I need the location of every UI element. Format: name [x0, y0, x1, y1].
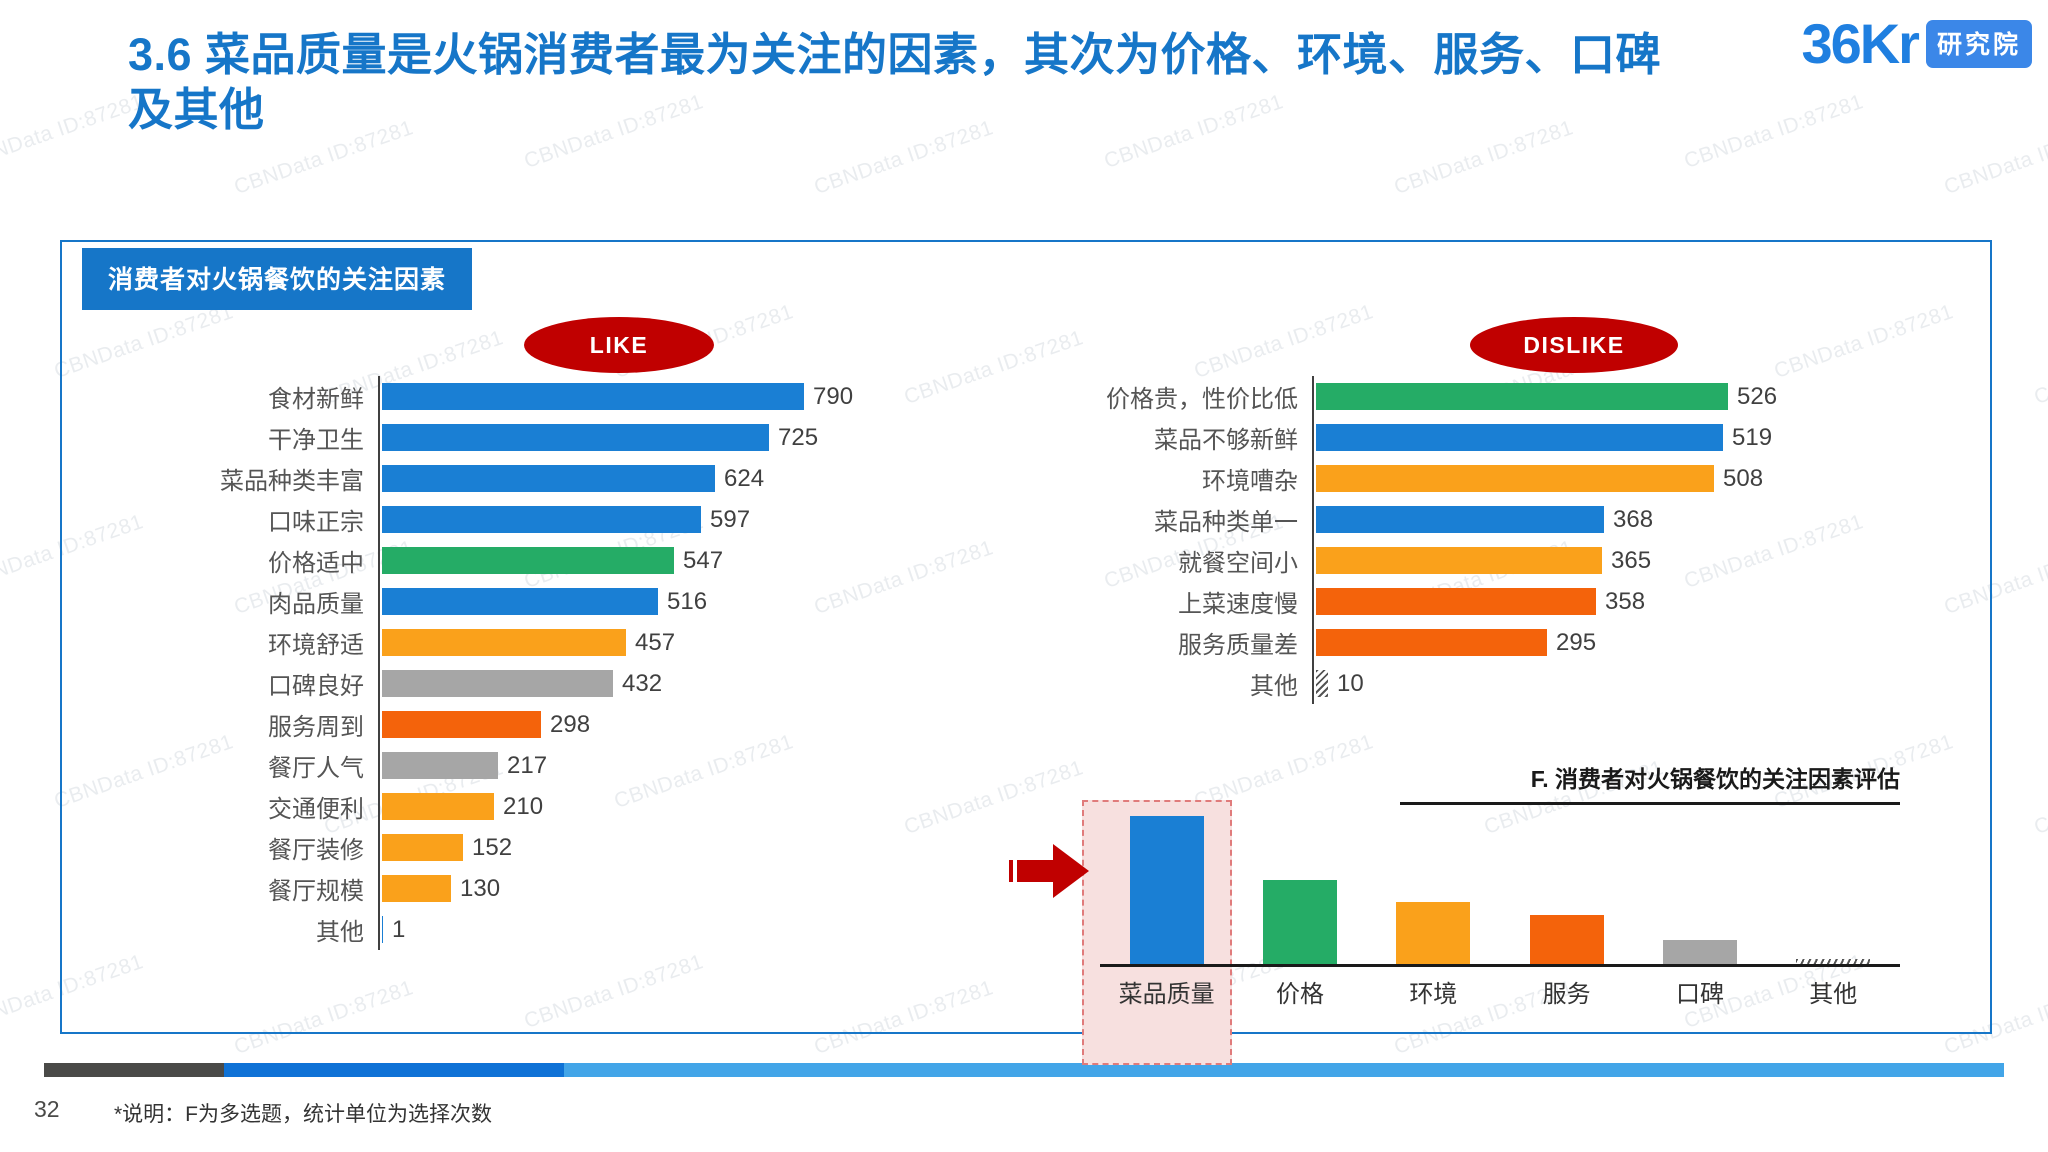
mini-bar-label: 环境 — [1367, 974, 1500, 1009]
bar-track: 298 — [378, 711, 920, 739]
bar-row: 餐厅规模130 — [150, 868, 920, 909]
mini-chart-title: F. 消费者对火锅餐饮的关注因素评估 — [1531, 760, 1900, 794]
mini-bar-segment — [1396, 902, 1470, 964]
bar-segment — [1316, 424, 1723, 451]
bar-track: 358 — [1312, 588, 1800, 616]
bar-segment — [382, 752, 498, 779]
bar-category-label: 环境嘈杂 — [1040, 461, 1312, 496]
bar-row: 口碑良好432 — [150, 663, 920, 704]
bar-value-label: 597 — [701, 506, 750, 534]
bar-track: 547 — [378, 547, 920, 575]
bar-category-label: 其他 — [150, 912, 378, 947]
page-number: 32 — [34, 1096, 60, 1123]
bar-value-label: 790 — [804, 383, 853, 411]
bar-category-label: 口碑良好 — [150, 666, 378, 701]
mini-bar-segment — [1530, 915, 1604, 964]
mini-bar-segment — [1663, 940, 1737, 964]
bar-row: 价格适中547 — [150, 540, 920, 581]
bar-track: 295 — [1312, 629, 1800, 657]
mini-chart-labels: 菜品质量价格环境服务口碑其他 — [1100, 974, 1900, 1009]
watermark-text: CBNData ID:87281 — [0, 90, 147, 174]
bar-value-label: 210 — [494, 793, 543, 821]
bar-track: 519 — [1312, 424, 1800, 452]
bar-category-label: 口味正宗 — [150, 502, 378, 537]
bar-value-label: 516 — [658, 588, 707, 616]
mini-bar-segment — [1130, 816, 1204, 964]
bar-value-label: 217 — [498, 752, 547, 780]
bar-row: 服务质量差295 — [1040, 622, 1800, 663]
bar-segment — [382, 875, 451, 902]
bar-row: 服务周到298 — [150, 704, 920, 745]
bar-row: 价格贵，性价比低526 — [1040, 376, 1800, 417]
mini-bar-column — [1367, 812, 1500, 964]
bar-track: 508 — [1312, 465, 1800, 493]
bar-row: 口味正宗597 — [150, 499, 920, 540]
like-bar-chart: 食材新鲜790干净卫生725菜品种类丰富624口味正宗597价格适中547肉品质… — [150, 376, 920, 950]
bar-row: 菜品不够新鲜519 — [1040, 417, 1800, 458]
bar-category-label: 价格适中 — [150, 543, 378, 578]
bar-category-label: 价格贵，性价比低 — [1040, 379, 1312, 414]
bar-track: 597 — [378, 506, 920, 534]
mini-bar-segment — [1263, 880, 1337, 964]
bar-track: 725 — [378, 424, 920, 452]
bar-track: 1 — [378, 916, 920, 944]
mini-bar-label: 其他 — [1767, 974, 1900, 1009]
bar-segment — [382, 711, 541, 738]
bar-track: 526 — [1312, 383, 1800, 411]
dislike-bar-chart: 价格贵，性价比低526菜品不够新鲜519环境嘈杂508菜品种类单一368就餐空间… — [1040, 376, 1800, 704]
bar-value-label: 295 — [1547, 629, 1596, 657]
mini-bar-column — [1100, 812, 1233, 964]
bar-value-label: 152 — [463, 834, 512, 862]
slide-root: CBNData ID:87281CBNData ID:87281CBNData … — [0, 0, 2048, 1152]
like-badge: LIKE — [524, 317, 714, 373]
bar-track: 790 — [378, 383, 920, 411]
bar-segment-hatched — [1316, 670, 1328, 697]
bar-segment — [382, 670, 613, 697]
bar-category-label: 菜品不够新鲜 — [1040, 420, 1312, 455]
mini-chart-plot — [1100, 812, 1900, 964]
bar-value-label: 130 — [451, 875, 500, 903]
bar-segment — [1316, 547, 1602, 574]
bar-value-label: 457 — [626, 629, 675, 657]
bar-segment — [1316, 629, 1547, 656]
bar-track: 210 — [378, 793, 920, 821]
bar-segment — [382, 383, 804, 410]
bar-category-label: 干净卫生 — [150, 420, 378, 455]
dislike-badge: DISLIKE — [1470, 317, 1678, 373]
mini-bar-label: 口碑 — [1633, 974, 1766, 1009]
bar-segment — [1316, 383, 1728, 410]
bar-value-label: 365 — [1602, 547, 1651, 575]
bar-category-label: 菜品种类丰富 — [150, 461, 378, 496]
bar-segment — [1316, 588, 1596, 615]
mini-bar-label: 价格 — [1233, 974, 1366, 1009]
mini-bar-label: 菜品质量 — [1100, 974, 1233, 1009]
logo-36kr-text: 36Kr — [1801, 16, 1918, 72]
bar-category-label: 餐厅规模 — [150, 871, 378, 906]
footer-segment-2 — [224, 1063, 564, 1077]
watermark-text: CBNData ID:87281 — [2031, 756, 2048, 840]
red-arrow-icon — [1007, 838, 1093, 909]
bar-category-label: 交通便利 — [150, 789, 378, 824]
bar-row: 餐厅装修152 — [150, 827, 920, 868]
assessment-mini-chart: F. 消费者对火锅餐饮的关注因素评估 菜品质量价格环境服务口碑其他 — [1100, 760, 1900, 1000]
mini-bar-label: 服务 — [1500, 974, 1633, 1009]
bar-track: 368 — [1312, 506, 1800, 534]
footer-progress-bar — [44, 1063, 2004, 1077]
bar-value-label: 368 — [1604, 506, 1653, 534]
mini-chart-rule — [1400, 802, 1900, 805]
bar-value-label: 432 — [613, 670, 662, 698]
bar-value-label: 526 — [1728, 383, 1777, 411]
bar-row: 菜品种类丰富624 — [150, 458, 920, 499]
bar-category-label: 食材新鲜 — [150, 379, 378, 414]
bar-row: 食材新鲜790 — [150, 376, 920, 417]
bar-value-label: 547 — [674, 547, 723, 575]
mini-bar-column — [1767, 812, 1900, 964]
bar-value-label: 298 — [541, 711, 590, 739]
bar-category-label: 上菜速度慢 — [1040, 584, 1312, 619]
bar-segment — [382, 629, 626, 656]
watermark-text: CBNData ID:87281 — [1941, 116, 2048, 200]
bar-track: 516 — [378, 588, 920, 616]
bar-row: 上菜速度慢358 — [1040, 581, 1800, 622]
bar-row: 菜品种类单一368 — [1040, 499, 1800, 540]
footnote: *说明：F为多选题，统计单位为选择次数 — [114, 1098, 492, 1128]
bar-segment — [1316, 506, 1604, 533]
bar-category-label: 餐厅装修 — [150, 830, 378, 865]
bar-category-label: 就餐空间小 — [1040, 543, 1312, 578]
bar-value-label: 508 — [1714, 465, 1763, 493]
brand-logo: 36Kr 研究院 — [1801, 16, 2032, 72]
bar-track: 217 — [378, 752, 920, 780]
page-title: 3.6 菜品质量是火锅消费者最为关注的因素，其次为价格、环境、服务、口碑及其他 — [128, 28, 1688, 138]
bar-value-label: 725 — [769, 424, 818, 452]
bar-category-label: 菜品种类单一 — [1040, 502, 1312, 537]
footer-segment-3 — [564, 1063, 2004, 1077]
bar-track: 365 — [1312, 547, 1800, 575]
bar-value-label: 358 — [1596, 588, 1645, 616]
bar-row: 就餐空间小365 — [1040, 540, 1800, 581]
bar-row: 环境嘈杂508 — [1040, 458, 1800, 499]
mini-bar-column — [1633, 812, 1766, 964]
bar-category-label: 餐厅人气 — [150, 748, 378, 783]
bar-category-label: 服务周到 — [150, 707, 378, 742]
logo-research-badge: 研究院 — [1926, 20, 2032, 68]
bar-segment — [382, 424, 769, 451]
watermark-text: CBNData ID:87281 — [2031, 326, 2048, 410]
panel-title: 消费者对火锅餐饮的关注因素 — [82, 248, 472, 310]
bar-segment — [382, 793, 494, 820]
bar-row: 其他10 — [1040, 663, 1800, 704]
bar-row: 餐厅人气217 — [150, 745, 920, 786]
bar-segment — [382, 506, 701, 533]
bar-value-label: 519 — [1723, 424, 1772, 452]
watermark-text: CBNData ID:87281 — [1681, 90, 1866, 174]
bar-category-label: 服务质量差 — [1040, 625, 1312, 660]
bar-row: 干净卫生725 — [150, 417, 920, 458]
bar-row: 环境舒适457 — [150, 622, 920, 663]
bar-track: 152 — [378, 834, 920, 862]
bar-segment — [382, 465, 715, 492]
bar-segment — [382, 834, 463, 861]
mini-chart-baseline — [1100, 964, 1900, 967]
bar-value-label: 1 — [383, 916, 405, 944]
bar-category-label: 肉品质量 — [150, 584, 378, 619]
bar-track: 457 — [378, 629, 920, 657]
bar-track: 624 — [378, 465, 920, 493]
mini-bar-column — [1500, 812, 1633, 964]
bar-row: 其他1 — [150, 909, 920, 950]
bar-value-label: 624 — [715, 465, 764, 493]
bar-track: 130 — [378, 875, 920, 903]
bar-track: 432 — [378, 670, 920, 698]
bar-segment — [1316, 465, 1714, 492]
bar-category-label: 其他 — [1040, 666, 1312, 701]
bar-category-label: 环境舒适 — [150, 625, 378, 660]
bar-track: 10 — [1312, 670, 1800, 698]
mini-bar-column — [1233, 812, 1366, 964]
bar-segment — [382, 588, 658, 615]
bar-segment — [382, 547, 674, 574]
footer-segment-1 — [44, 1063, 224, 1077]
bar-row: 肉品质量516 — [150, 581, 920, 622]
bar-row: 交通便利210 — [150, 786, 920, 827]
bar-value-label: 10 — [1328, 670, 1364, 698]
